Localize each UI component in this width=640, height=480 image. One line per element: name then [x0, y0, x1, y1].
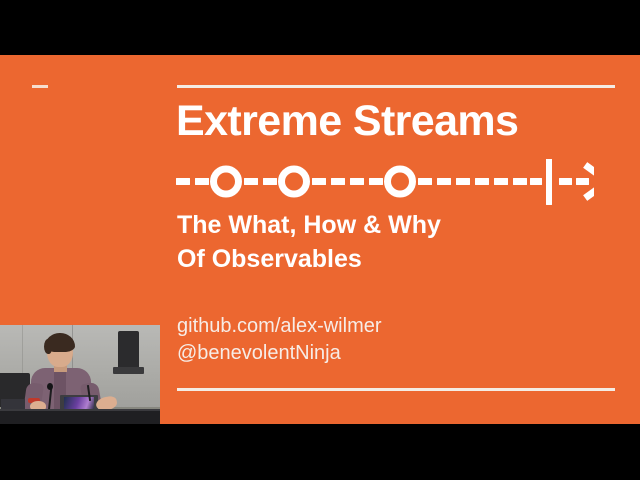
presenter-hair-side: [44, 339, 52, 354]
divider-top: [177, 85, 615, 88]
presenter-webcam-overlay: [0, 325, 160, 425]
wall-speaker: [118, 331, 139, 369]
microphone-head: [47, 383, 53, 390]
podium: [0, 411, 160, 425]
letterbox-top-bar: [0, 0, 640, 55]
slide-links: github.com/alex-wilmer @benevolentNinja: [177, 313, 382, 367]
marble-diagram-graphic: [174, 159, 594, 205]
divider-bottom: [177, 388, 615, 391]
slide-subtitle: The What, How & Why Of Observables: [177, 209, 441, 276]
video-player-frame: Extreme Streams: [0, 0, 640, 480]
wall-speaker-base: [113, 367, 144, 374]
corner-dash-icon: [32, 85, 48, 88]
letterbox-bottom-bar: [0, 424, 640, 480]
marble-diagram: [174, 159, 594, 205]
slide-title: Extreme Streams: [176, 100, 518, 143]
